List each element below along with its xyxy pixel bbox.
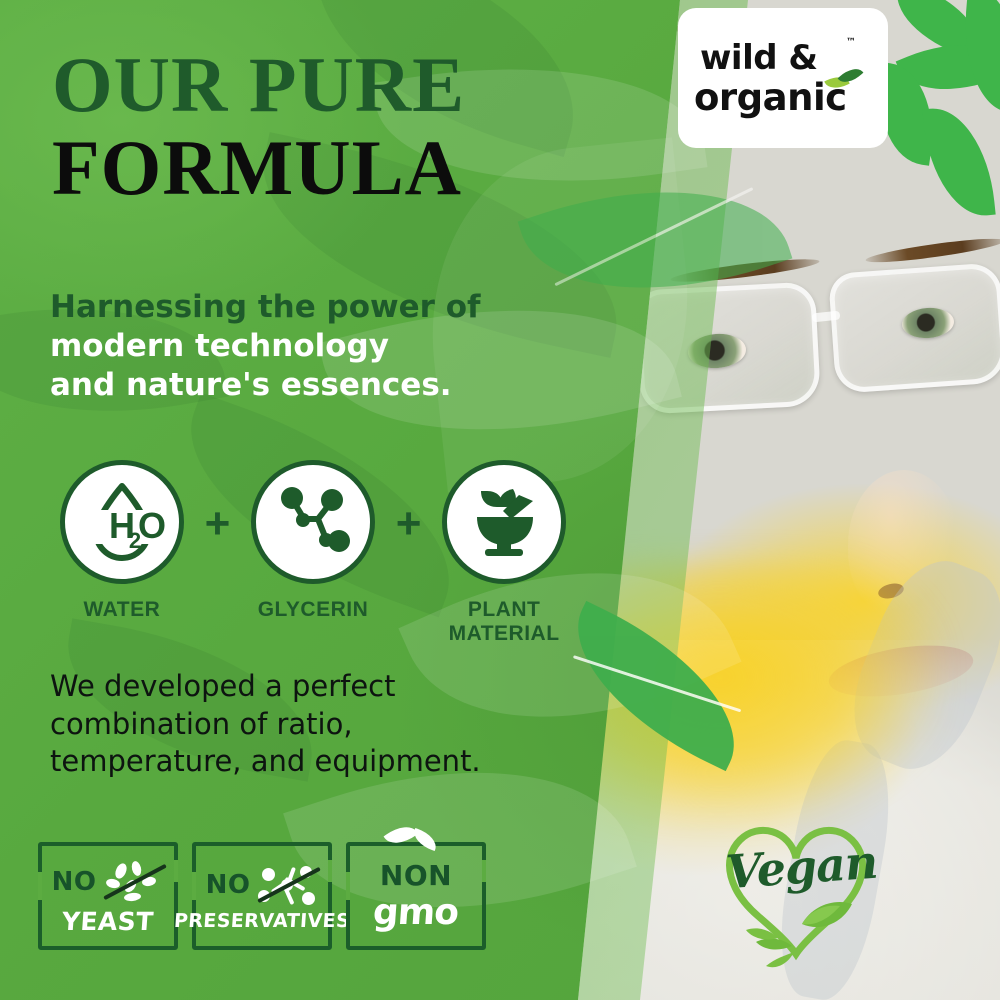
body-line-one: We developed a perfect [50, 668, 550, 706]
badge-top-row: NO [192, 860, 332, 910]
plant-label-line-one: PLANT [468, 598, 541, 621]
ingredient-label-plant-material: PLANT MATERIAL [449, 598, 560, 645]
ingredient-glycerin: GLYCERIN [239, 460, 387, 622]
logo-inner: ™ wild & organic [694, 41, 872, 116]
badge-prefix-gmo: NON [380, 859, 452, 892]
subtitle-line-two: modern technology [50, 327, 570, 366]
badge-non-gmo[interactable]: NON gmo [346, 842, 486, 950]
vegan-label: Vegan [724, 835, 877, 899]
ingredient-label-water: WATER [83, 598, 160, 622]
body-line-three: temperature, and equipment. [50, 743, 550, 781]
certification-badges: NO YEAST NO [38, 842, 486, 950]
page-title: OUR PURE FORMULA [52, 48, 632, 207]
poster-canvas: ™ wild & organic OUR PURE FORMULA Harnes… [0, 0, 1000, 1000]
subtitle-block: Harnessing the power of modern technolog… [50, 288, 570, 405]
badge-prefix-yeast: NO [52, 867, 97, 897]
trademark-symbol: ™ [846, 37, 856, 48]
badge-content: NO YEAST [38, 842, 178, 950]
badge-word-preservatives: PRESERVATIVES [173, 910, 351, 932]
badge-word-yeast: YEAST [61, 907, 155, 936]
brand-logo[interactable]: ™ wild & organic [678, 8, 888, 148]
logo-leaf-icons [826, 67, 866, 93]
ingredient-plant-material: PLANT MATERIAL [430, 460, 578, 645]
body-line-two: combination of ratio, [50, 706, 550, 744]
yeast-crossed-out-icon [102, 859, 164, 905]
subtitle-line-three: and nature's essences. [50, 366, 570, 405]
water-circle: H 2 O [60, 460, 184, 584]
badge-no-preservatives[interactable]: NO PRESERVATIVES [192, 842, 332, 950]
molecule-icon [270, 479, 356, 565]
plus-separator-two: + [387, 502, 430, 546]
molecule-crossed-out-icon [256, 862, 318, 908]
ingredient-water: H 2 O WATER [48, 460, 196, 622]
glycerin-circle [251, 460, 375, 584]
subtitle-line-one: Harnessing the power of [50, 288, 570, 327]
water-droplet-h2o-icon: H 2 O [76, 476, 168, 568]
vegan-badge[interactable]: Vegan [706, 806, 886, 978]
badge-top-row: NO [38, 857, 178, 907]
plant-label-line-two: MATERIAL [449, 622, 560, 645]
headline-line-one: OUR PURE [52, 48, 632, 123]
plus-separator-one: + [196, 502, 239, 546]
mortar-pestle-leaf-icon [461, 479, 547, 565]
plant-material-circle [442, 460, 566, 584]
badge-word-gmo: gmo [372, 892, 460, 933]
svg-text:O: O [138, 505, 166, 546]
badge-content: NON gmo [346, 842, 486, 950]
badge-prefix-preservatives: NO [206, 870, 251, 900]
body-paragraph: We developed a perfect combination of ra… [50, 668, 550, 781]
badge-no-yeast[interactable]: NO YEAST [38, 842, 178, 950]
ingredient-label-glycerin: GLYCERIN [258, 598, 369, 622]
ingredients-row: H 2 O WATER + [48, 460, 578, 645]
badge-content: NO PRESERVATIVES [192, 842, 332, 950]
headline-line-two: FORMULA [52, 129, 632, 207]
